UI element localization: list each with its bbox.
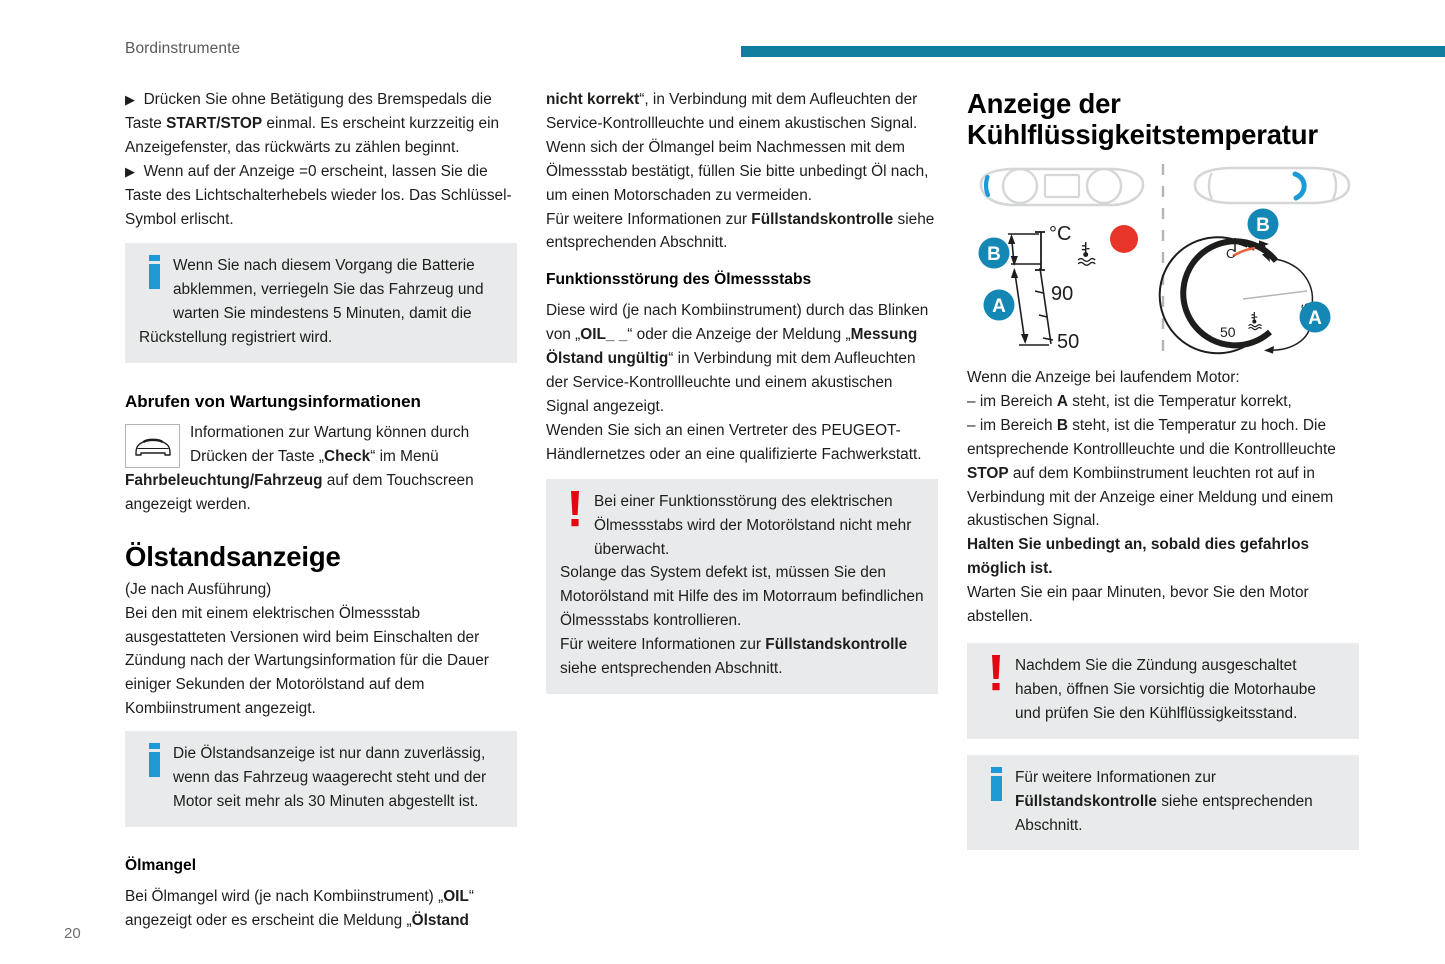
exclamation-icon-svg-2 (989, 655, 1003, 691)
para-oelstandsanzeige: Bei den mit einem elektrischen Ölmesssta… (125, 602, 517, 722)
exclamation-icon-2 (981, 655, 1011, 703)
warning-callout-oelmessstab: Bei einer Funktionsstörung des elektrisc… (546, 479, 938, 694)
info-callout-battery-text: Wenn Sie nach diesem Vorgang die Batteri… (139, 254, 503, 350)
coolant-temp-icon (1078, 242, 1095, 265)
label-50-left: 50 (1057, 331, 1079, 353)
label-90-left: 90 (1051, 283, 1073, 305)
coolant-temp-icon-right (1249, 312, 1262, 330)
zone-a-label-left: A (992, 296, 1006, 317)
warning-callout-text-3: Für weitere Informationen zur Füllstands… (560, 633, 924, 681)
zone-a-label-right: A (1308, 308, 1322, 329)
page-title: Bordinstrumente (125, 40, 240, 58)
bullet-start-stop: ▶ Drücken Sie ohne Betätigung des Bremsp… (125, 88, 517, 160)
label-celsius: °C (1049, 223, 1071, 245)
car-front-icon-svg (134, 435, 172, 457)
column-right: Anzeige der Kühlflüssigkeitstemperatur (967, 88, 1359, 850)
info-callout-fuellstand: Für weitere Informationen zur Füllstands… (967, 755, 1359, 851)
triangle-right-icon: ▶ (125, 92, 135, 107)
page-number: 20 (64, 925, 81, 942)
info-i-icon-svg-3 (991, 767, 1002, 801)
right-gauge-arc: C 90 50 (1160, 237, 1316, 353)
check-info-text: Informationen zur Wartung können durch D… (125, 421, 517, 517)
check-info-block: Informationen zur Wartung können durch D… (125, 421, 517, 517)
exclamation-icon (560, 491, 590, 539)
heading-line-1: Anzeige der (967, 88, 1121, 119)
exclamation-icon-svg (568, 491, 582, 527)
instrument-cluster-left (981, 169, 1143, 205)
para-bereich-b: – im Bereich B steht, ist die Temperatur… (967, 414, 1359, 534)
column-left: ▶ Drücken Sie ohne Betätigung des Bremsp… (125, 88, 517, 933)
warning-lamp-red (1110, 225, 1138, 253)
zone-b-label-right: B (1256, 215, 1270, 236)
zone-badge-b-right: B (1248, 209, 1279, 240)
page-header: Bordinstrumente (0, 40, 1445, 64)
car-front-icon (125, 424, 180, 468)
heading-anzeige-kuehlfluessigkeit: Anzeige der Kühlflüssigkeitstemperatur (967, 88, 1359, 150)
triangle-right-icon-2: ▶ (125, 164, 135, 179)
para-bereich-a: – im Bereich A steht, ist die Temperatur… (967, 390, 1359, 414)
left-gauge-scale: °C 90 50 (1008, 223, 1138, 353)
label-c-right: C (1226, 246, 1235, 261)
heading-oelstandsanzeige: Ölstandsanzeige (125, 541, 517, 572)
heading-line-2: Kühlflüssigkeitstemperatur (967, 119, 1318, 150)
info-callout-oelstand: Die Ölstandsanzeige ist nur dann zuverlä… (125, 731, 517, 827)
info-callout-oelstand-text: Die Ölstandsanzeige ist nur dann zuverlä… (139, 742, 503, 814)
zone-badge-a-left: A (984, 290, 1015, 321)
coolant-temperature-figure-svg: °C 90 50 (967, 160, 1359, 360)
heading-abrufen-wartungsinfo: Abrufen von Wartungsinformationen (125, 391, 517, 413)
bullet-release-key: ▶ Wenn auf der Anzeige =0 erscheint, las… (125, 160, 517, 232)
content-columns: ▶ Drücken Sie ohne Betätigung des Bremsp… (0, 88, 1445, 964)
heading-funktionsstoerung: Funktionsstörung des Ölmessstabs (546, 269, 938, 291)
zone-badge-a-right: A (1300, 302, 1331, 333)
info-callout-fuellstand-text: Für weitere Informationen zur Füllstands… (981, 766, 1345, 838)
subtitle-variant: (Je nach Ausführung) (125, 578, 517, 602)
warning-callout-motorhaube: Nachdem Sie die Zündung ausgeschaltet ha… (967, 643, 1359, 739)
label-50-right: 50 (1220, 324, 1236, 340)
para-wenden-sie-sich: Wenden Sie sich an einen Vertreter des P… (546, 419, 938, 467)
warning-callout-text-2: Solange das System defekt ist, müssen Si… (560, 561, 924, 633)
zone-b-label-left: B (987, 244, 1001, 265)
info-i-icon (139, 255, 169, 303)
para-oelmangel: Bei Ölmangel wird (je nach Kombiinstrume… (125, 885, 517, 933)
header-rule (741, 46, 1445, 57)
para-funktionsstoerung: Diese wird (je nach Kombiinstrument) dur… (546, 299, 938, 419)
info-callout-battery: Wenn Sie nach diesem Vorgang die Batteri… (125, 243, 517, 363)
column-middle: nicht korrekt“, in Verbindung mit dem Au… (546, 88, 938, 694)
para-halten-sie-an: Halten Sie unbedingt an, sobald dies gef… (967, 533, 1359, 581)
coolant-temperature-figure: °C 90 50 (967, 160, 1359, 360)
heading-oelmangel: Ölmangel (125, 855, 517, 877)
para-warten-sie: Warten Sie ein paar Minuten, bevor Sie d… (967, 581, 1359, 629)
info-i-icon-2 (139, 743, 169, 791)
info-i-icon-svg-2 (149, 743, 160, 777)
info-i-icon-svg (149, 255, 160, 289)
warning-callout-motorhaube-text: Nachdem Sie die Zündung ausgeschaltet ha… (981, 654, 1345, 726)
para-continued-nicht-korrekt: nicht korrekt“, in Verbindung mit dem Au… (546, 88, 938, 208)
para-intro-anzeige: Wenn die Anzeige bei laufendem Motor: (967, 366, 1359, 390)
warning-callout-text-1: Bei einer Funktionsstörung des elektrisc… (560, 490, 924, 562)
para-fuellstandskontrolle-ref: Für weitere Informationen zur Füllstands… (546, 208, 938, 256)
info-i-icon-3 (981, 767, 1011, 815)
zone-badge-b-left: B (979, 238, 1010, 269)
instrument-cluster-right (1195, 168, 1349, 203)
